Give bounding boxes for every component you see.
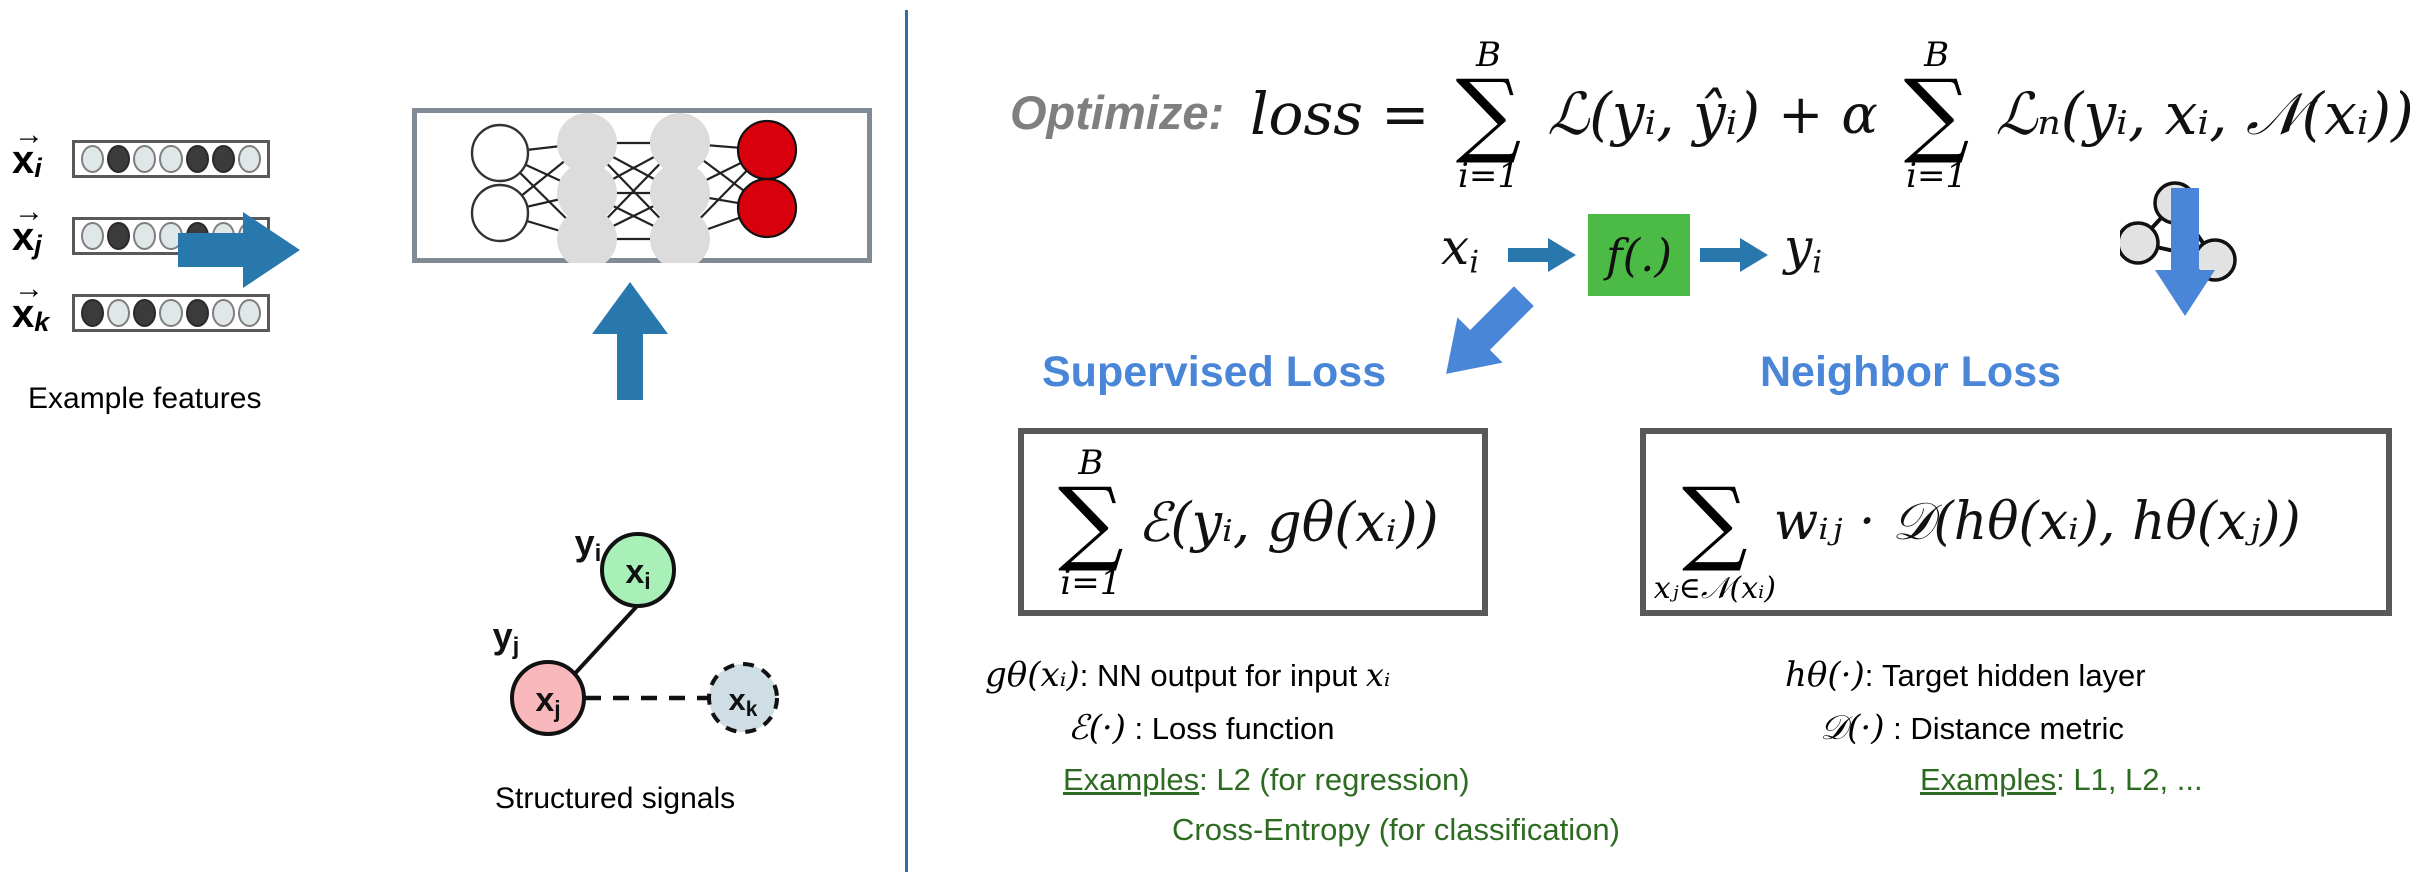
legend-separator: : <box>1080 658 1097 693</box>
legend-text: Distance metric <box>1910 711 2124 746</box>
neighbor-examples-line-1: Examples: L1, L2, ... <box>1920 762 2203 798</box>
supervised-loss-box: B ∑ i=1 ℰ(yᵢ, gθ(xᵢ)) <box>1018 428 1488 616</box>
legend-separator: : <box>1126 711 1152 746</box>
vector-sub-i: i <box>34 153 42 183</box>
structured-signals-caption: Structured signals <box>495 782 735 816</box>
feature-dot <box>159 145 182 173</box>
examples-label: Examples <box>1063 762 1199 797</box>
supervised-legend-row-1: gθ(xᵢ): NN output for input xᵢ <box>985 655 1390 695</box>
example-features-caption: Example features <box>28 382 261 416</box>
feature-vector-label-j: → xj <box>12 215 42 261</box>
output-node <box>738 121 796 179</box>
signals-to-network-arrow-icon <box>592 282 672 402</box>
pipeline-output-label: yi <box>1784 218 1822 281</box>
formula-lhs-loss: loss <box>1250 80 1363 148</box>
feature-dot <box>238 145 261 173</box>
neighbor-loss-arrow-icon <box>2155 188 2215 318</box>
feature-dot <box>81 299 104 327</box>
feature-vector-label-i: → xi <box>12 138 42 184</box>
pipeline-output-sub: i <box>1812 245 1822 281</box>
examples-label: Examples <box>1920 762 2056 797</box>
legend-separator: : <box>1884 711 1910 746</box>
function-box: f(.) <box>1588 214 1690 296</box>
legend-symbol: ℰ(·) <box>1068 708 1126 748</box>
function-box-label: f(.) <box>1606 229 1672 282</box>
legend-symbol: 𝒟(·) <box>1820 708 1884 748</box>
pipeline-output-y: y <box>1784 218 1812 276</box>
feature-dot <box>81 222 104 250</box>
optimize-label: Optimize: <box>1010 85 1224 140</box>
legend-trailing-math: xᵢ <box>1366 656 1390 694</box>
neighbor-loss-title: Neighbor Loss <box>1760 348 2061 397</box>
neighbor-loss-box: ∑ xⱼ∈𝒩(xᵢ) wᵢⱼ · 𝒟(hθ(xᵢ), hθ(xⱼ)) <box>1640 428 2392 616</box>
legend-text: NN output for input <box>1097 658 1366 693</box>
feature-vector-label-k: → xk <box>12 292 49 338</box>
neighbor-legend-row-2: 𝒟(·) : Distance metric <box>1820 708 2124 748</box>
output-node <box>738 179 796 237</box>
feature-dot <box>212 299 235 327</box>
legend-text: Target hidden layer <box>1882 658 2146 693</box>
sum-upper-limit: B <box>1078 446 1103 480</box>
diagram-canvas: → xi → xj → xk <box>0 0 2412 890</box>
sum-lower-limit: i=1 <box>1906 159 1967 193</box>
formula-term-neighbor: ℒₙ(yᵢ, xᵢ, 𝒩(xᵢ)) <box>1995 80 2412 149</box>
svg-text:yj: yj <box>493 615 520 660</box>
feature-dot <box>107 299 130 327</box>
features-to-network-arrow-icon <box>178 208 303 293</box>
sum-lower-limit: i=1 <box>1060 566 1121 600</box>
feature-dot <box>133 222 156 250</box>
input-node <box>472 125 528 181</box>
feature-dot <box>186 145 209 173</box>
legend-symbol: gθ(xᵢ) <box>985 655 1080 695</box>
vector-arrow-icon: → <box>14 195 44 229</box>
neighbor-formula-body: wᵢⱼ · 𝒟(hθ(xᵢ), hθ(xⱼ)) <box>1774 492 2301 553</box>
vector-sub-k: k <box>34 307 49 337</box>
feature-dot <box>159 299 182 327</box>
supervised-sum: B ∑ i=1 <box>1058 480 1124 565</box>
formula-alpha: α <box>1841 83 1877 146</box>
legend-symbol: hθ(·) <box>1785 655 1865 695</box>
feature-dot <box>133 145 156 173</box>
formula-term-supervised: ℒ(yᵢ, ŷᵢ) <box>1547 80 1760 148</box>
feature-vector-box-i <box>72 140 270 178</box>
neural-network-graph <box>412 108 872 263</box>
feature-dot <box>238 299 261 327</box>
legend-text: Loss function <box>1152 711 1335 746</box>
sum-glyph: ∑ <box>1682 480 1748 565</box>
supervised-loss-title: Supervised Loss <box>1042 348 1386 397</box>
examples-value: : L2 (for regression) <box>1199 762 1470 797</box>
supervised-loss-arrow-icon <box>1420 275 1550 395</box>
supervised-formula-body: ℰ(yᵢ, gθ(xᵢ)) <box>1138 491 1439 554</box>
panel-divider <box>905 10 908 872</box>
feature-dot <box>133 299 156 327</box>
feature-dot <box>107 222 130 250</box>
sum-lower-limit: xⱼ∈𝒩(xᵢ) <box>1654 574 1776 604</box>
vector-arrow-icon: → <box>14 272 44 306</box>
svg-text:yi: yi <box>575 522 602 567</box>
neighbor-legend-row-1: hθ(·): Target hidden layer <box>1785 655 2146 695</box>
input-node <box>472 185 528 241</box>
sum-upper-limit: B <box>1924 38 1949 72</box>
pipeline-arrow-in-icon <box>1508 238 1578 272</box>
summation-1: B ∑ i=1 <box>1456 72 1522 157</box>
neighbor-sum: ∑ xⱼ∈𝒩(xᵢ) <box>1682 480 1748 565</box>
formula-plus: + <box>1778 83 1823 146</box>
pipeline-input-x: x <box>1441 218 1469 276</box>
legend-separator: : <box>1865 658 1882 693</box>
vector-sub-j: j <box>34 230 42 260</box>
sum-glyph: ∑ <box>1904 72 1970 157</box>
supervised-examples-line-2: Cross-Entropy (for classification) <box>1172 812 1620 848</box>
sum-glyph: ∑ <box>1058 480 1124 565</box>
feature-dot <box>212 145 235 173</box>
summation-2: B ∑ i=1 <box>1904 72 1970 157</box>
feature-vector-box-k <box>72 294 270 332</box>
sum-upper-limit: B <box>1476 38 1501 72</box>
feature-dot <box>81 145 104 173</box>
pipeline-input-label: xi <box>1441 218 1479 281</box>
feature-dot <box>186 299 209 327</box>
examples-value: : L1, L2, ... <box>2056 762 2202 797</box>
vector-arrow-icon: → <box>14 118 44 152</box>
feature-dot <box>107 145 130 173</box>
main-loss-formula: loss = B ∑ i=1 ℒ(yᵢ, ŷᵢ) + α B ∑ i=1 ℒₙ(… <box>1250 72 2412 157</box>
supervised-examples-line-1: Examples: L2 (for regression) <box>1063 762 1470 798</box>
sum-glyph: ∑ <box>1456 72 1522 157</box>
formula-equals: = <box>1381 80 1430 148</box>
supervised-legend-row-2: ℰ(·) : Loss function <box>1068 708 1334 748</box>
sum-lower-limit: i=1 <box>1458 159 1519 193</box>
structured-signals-graph: xi xj xk yi yj <box>490 500 790 750</box>
pipeline-arrow-out-icon <box>1700 238 1770 272</box>
